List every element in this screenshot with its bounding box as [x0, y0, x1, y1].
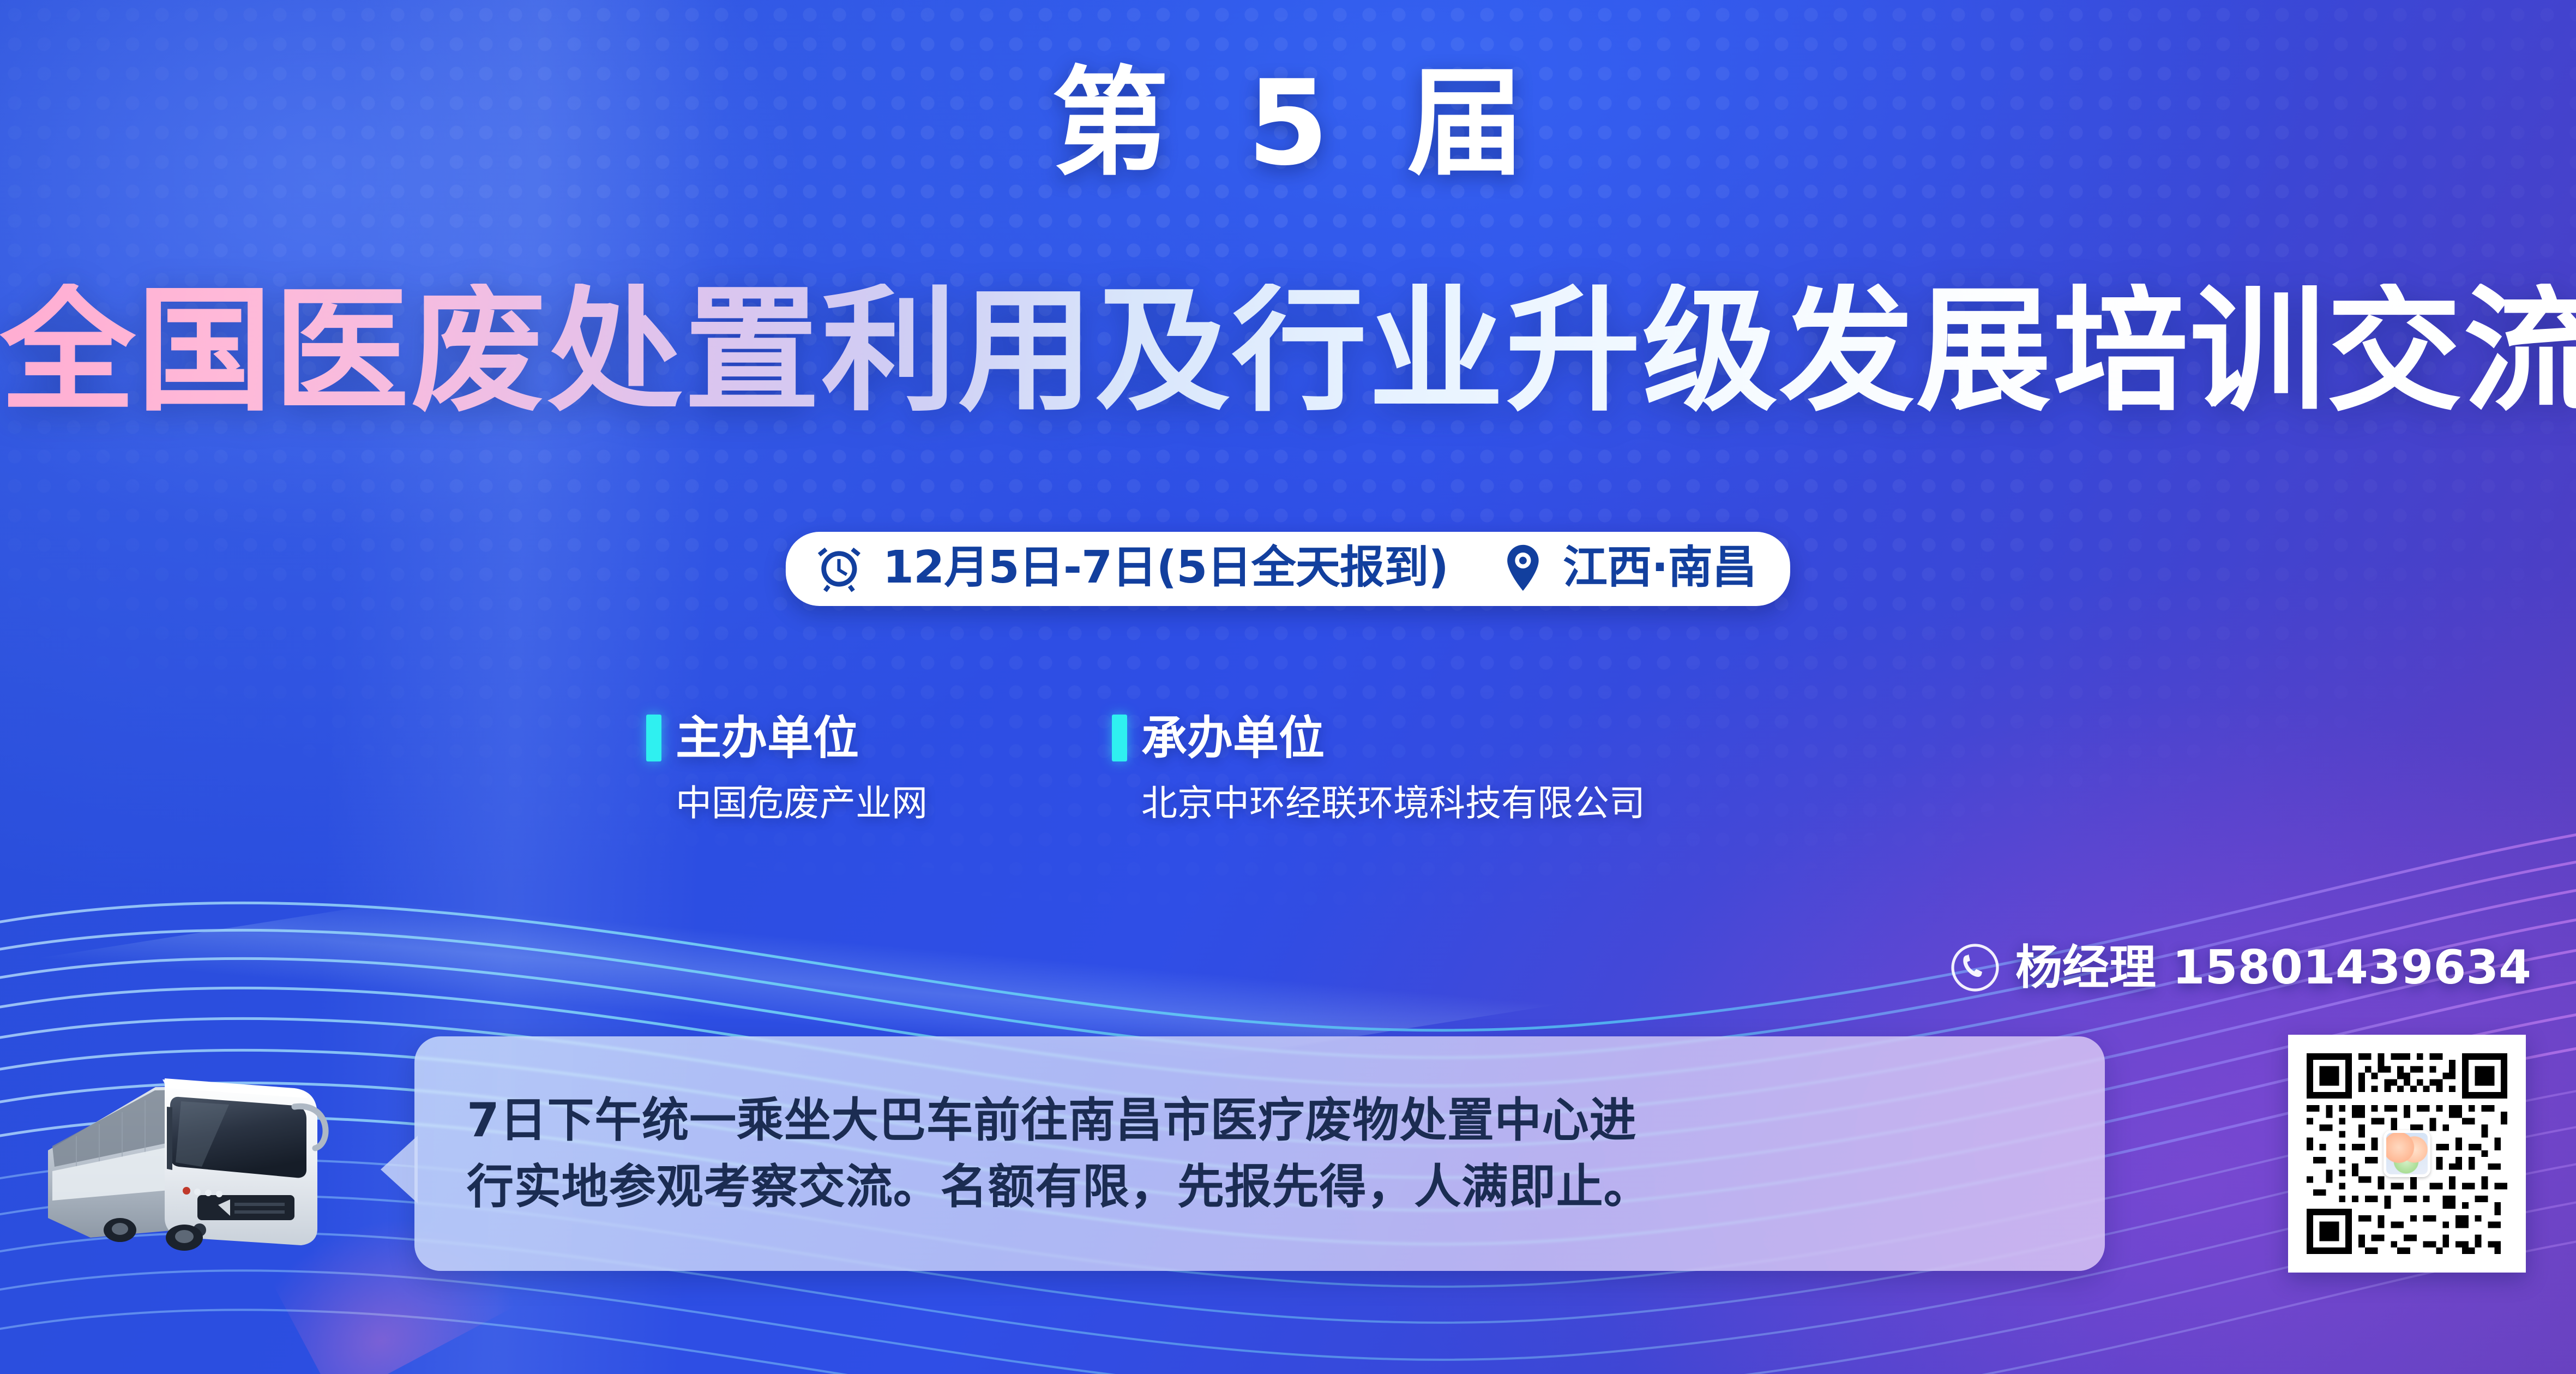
organizers-section: 主办单位 中国危废产业网 承办单位 北京中环经联环境科技有限公司	[646, 715, 1645, 821]
wechat-qr-code[interactable]	[2288, 1035, 2526, 1273]
notice-line-2: 行实地参观考察交流。名额有限，先报先得，人满即止。	[467, 1154, 1651, 1220]
accent-bar-icon	[646, 715, 661, 761]
organizer-host-header: 主办单位	[646, 715, 928, 761]
contact-text: 杨经理 15801439634	[2015, 944, 2531, 991]
organizer-host-name: 中国危废产业网	[676, 785, 928, 821]
organizer-coorganizer-label: 承办单位	[1141, 715, 1325, 761]
flower-bouquet-avatar	[2384, 1130, 2430, 1177]
location-pin-icon	[1502, 543, 1544, 593]
edition-title: 第 5 届	[0, 64, 2576, 182]
accent-bar-icon	[1112, 715, 1127, 761]
organizer-coorganizer-name: 北京中环经联环境科技有限公司	[1141, 785, 1645, 821]
organizer-coorganizer: 承办单位 北京中环经联环境科技有限公司	[1112, 715, 1645, 821]
organizer-host-label: 主办单位	[676, 715, 859, 761]
phone-circle-icon	[1949, 941, 2001, 994]
notice-text: 7日下午统一乘坐大巴车前往南昌市医疗废物处置中心进 行实地参观考察交流。名额有限…	[467, 1087, 1651, 1220]
event-date: 12月5日-7日(5日全天报到)	[883, 545, 1448, 590]
date-location-pill: 12月5日-7日(5日全天报到) 江西·南昌	[786, 532, 1790, 606]
contact-line[interactable]: 杨经理 15801439634	[1949, 941, 2531, 994]
page-title: 全国医废处置利用及行业升级发展培训交流会	[0, 284, 2576, 419]
poster-canvas: 第 5 届 全国医废处置利用及行业升级发展培训交流会 12月5日-7日(5日全天…	[0, 0, 2576, 1374]
organizer-host: 主办单位 中国危废产业网	[646, 715, 928, 821]
notice-line-1: 7日下午统一乘坐大巴车前往南昌市医疗废物处置中心进	[467, 1087, 1651, 1154]
alarm-clock-icon	[814, 543, 864, 593]
notice-panel: 7日下午统一乘坐大巴车前往南昌市医疗废物处置中心进 行实地参观考察交流。名额有限…	[414, 1036, 2105, 1271]
organizer-coorganizer-header: 承办单位	[1112, 715, 1645, 761]
coach-bus-photo	[38, 1054, 387, 1267]
event-location: 江西·南昌	[1563, 545, 1756, 590]
